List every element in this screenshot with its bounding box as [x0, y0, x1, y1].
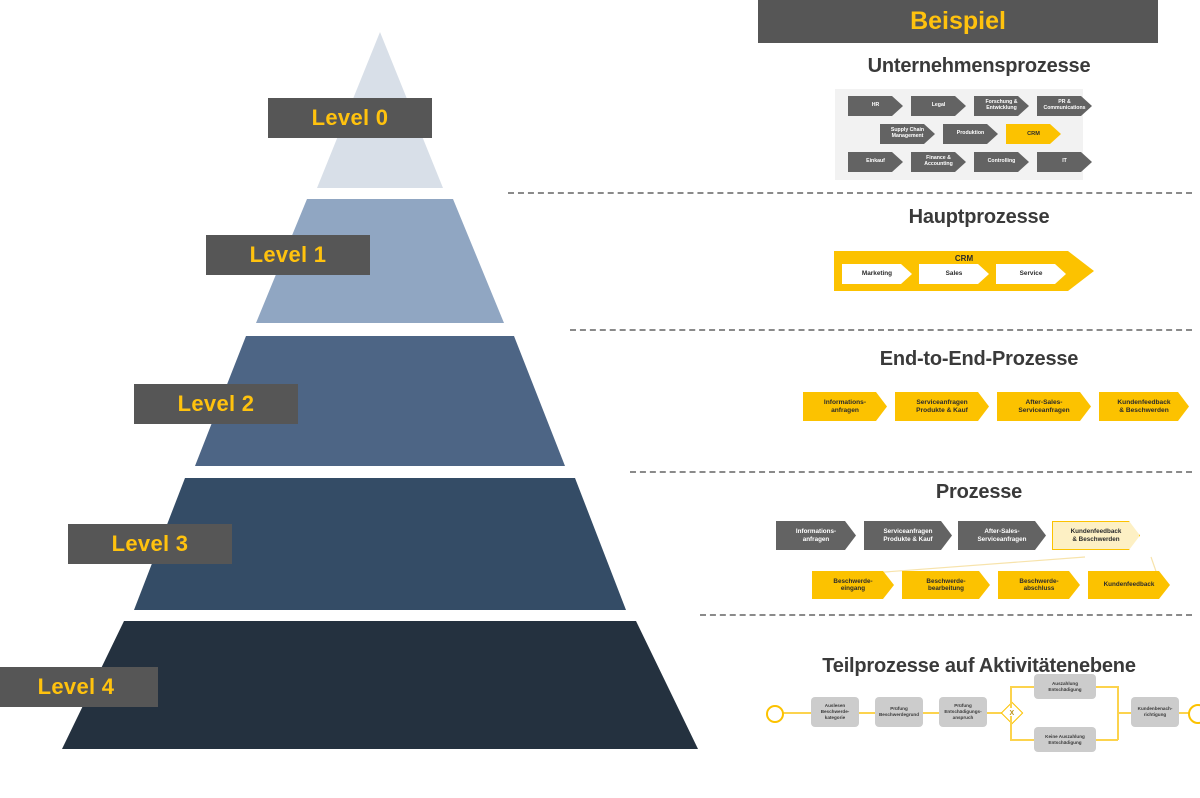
section-title-teilprozesse: Teilprozesse auf Aktivitätenebene: [758, 655, 1200, 678]
example-header-title: Beispiel: [910, 7, 1006, 36]
prozesse-top-informationsanfragen[interactable]: Informations- anfragen: [776, 521, 856, 550]
level-label-1[interactable]: Level 1: [206, 235, 370, 275]
level-label-0[interactable]: Level 0: [268, 98, 432, 138]
chevron-einkauf-label: Einkauf: [866, 159, 885, 165]
e2e-chevron-serviceanfragen[interactable]: Serviceanfragen Produkte & Kauf: [895, 392, 989, 421]
bpmn-task-pruefung-entschaedigungsanspruch-label: Prüfung Entschädigungs- anspruch: [944, 703, 981, 720]
chevron-sales[interactable]: Sales: [919, 264, 989, 284]
chevron-marketing[interactable]: Marketing: [842, 264, 912, 284]
bpmn-branch-up: [1010, 686, 1012, 708]
section-title-hauptprozesse: Hauptprozesse: [758, 206, 1200, 229]
bpmn-connector-1: [859, 712, 875, 714]
bpmn-task-auslesen-beschwerdekategorie-label: Auslesen Beschwerde- kategorie: [821, 703, 850, 720]
section-title-unternehmensprozesse: Unternehmensprozesse: [758, 55, 1200, 78]
chevron-produktion-label: Produktion: [957, 131, 984, 137]
chevron-pr-communications-label: PR & Communications: [1043, 100, 1085, 112]
bpmn-merge-to-final: [1117, 712, 1131, 714]
bpmn-flow: Auslesen Beschwerde- kategorie Prüfung B…: [758, 678, 1200, 798]
chevron-marketing-label: Marketing: [862, 270, 892, 277]
chevron-finance-accounting-label: Finance & Accounting: [924, 156, 953, 168]
prozesse-bottom-beschwerdebearbeitung[interactable]: Beschwerde- bearbeitung: [902, 571, 990, 599]
prozesse-bottom-kundenfeedback-label: Kundenfeedback: [1104, 581, 1155, 588]
prozesse-bottom-beschwerdeabschluss-label: Beschwerde- abschluss: [1019, 578, 1058, 592]
chevron-einkauf[interactable]: Einkauf: [848, 152, 903, 172]
chevron-forschung-entwicklung[interactable]: Forschung & Entwicklung: [974, 96, 1029, 116]
example-column: Beispiel Unternehmensprozesse HR Legal F…: [758, 0, 1200, 749]
bpmn-task-auszahlung-entschaedigung-label: Auszahlung Entschädigung: [1048, 681, 1081, 692]
bpmn-start-event: [766, 705, 784, 723]
prozesse-bottom-beschwerdeeingang[interactable]: Beschwerde- eingang: [812, 571, 894, 599]
chevron-legal[interactable]: Legal: [911, 96, 966, 116]
prozesse-top-after-sales-label: After-Sales- Serviceanfragen: [977, 528, 1026, 542]
bpmn-task-keine-auszahlung-entschaedigung-label: Keine Auszahlung Entschädigung: [1045, 734, 1085, 745]
bpmn-connector-2: [923, 712, 939, 714]
bpmn-branch-down: [1010, 716, 1012, 740]
slide-canvas: Level 0 Level 1 Level 2 Level 3 Level 4 …: [0, 0, 1200, 749]
prozesse-bottom-beschwerdebearbeitung-label: Beschwerde- bearbeitung: [926, 578, 965, 592]
chevron-controlling[interactable]: Controlling: [974, 152, 1029, 172]
level-label-3-text: Level 3: [112, 531, 189, 557]
level-label-0-text: Level 0: [312, 105, 389, 131]
e2e-chevron-kundenfeedback[interactable]: Kundenfeedback & Beschwerden: [1099, 392, 1189, 421]
bpmn-branch-down-h: [1010, 739, 1034, 741]
chevron-it-label: IT: [1062, 159, 1067, 165]
bpmn-branch-up-h: [1010, 686, 1034, 688]
chevron-hr-label: HR: [872, 103, 880, 109]
prozesse-bottom-beschwerdeeingang-label: Beschwerde- eingang: [833, 578, 872, 592]
bpmn-task-auslesen-beschwerdekategorie[interactable]: Auslesen Beschwerde- kategorie: [811, 697, 859, 727]
prozesse-top-informationsanfragen-label: Informations- anfragen: [796, 528, 836, 542]
level-label-3[interactable]: Level 3: [68, 524, 232, 564]
prozesse-top-serviceanfragen[interactable]: Serviceanfragen Produkte & Kauf: [864, 521, 952, 550]
prozesse-top-serviceanfragen-label: Serviceanfragen Produkte & Kauf: [883, 528, 932, 542]
e2e-chevron-kundenfeedback-label: Kundenfeedback & Beschwerden: [1117, 399, 1170, 414]
chevron-supply-chain-management[interactable]: Supply Chain Management: [880, 124, 935, 144]
e2e-chevron-serviceanfragen-label: Serviceanfragen Produkte & Kauf: [916, 399, 968, 414]
prozesse-bottom-kundenfeedback[interactable]: Kundenfeedback: [1088, 571, 1170, 599]
chevron-finance-accounting[interactable]: Finance & Accounting: [911, 152, 966, 172]
bpmn-merge-up-h: [1096, 686, 1118, 688]
prozesse-top-kundenfeedback-highlight[interactable]: Kundenfeedback & Beschwerden: [1052, 521, 1140, 550]
chevron-controlling-label: Controlling: [988, 159, 1016, 165]
chevron-crm-label: CRM: [1027, 131, 1040, 137]
bpmn-task-kundenbenachrichtigung-label: Kundenbenach- richtigung: [1138, 706, 1173, 717]
section-title-end-to-end-prozesse: End-to-End-Prozesse: [758, 348, 1200, 371]
level-label-1-text: Level 1: [250, 242, 327, 268]
prozesse-bottom-beschwerdeabschluss[interactable]: Beschwerde- abschluss: [998, 571, 1080, 599]
e2e-chevron-after-sales-label: After-Sales- Serviceanfragen: [1018, 399, 1069, 414]
bpmn-merge-down-h: [1096, 739, 1118, 741]
bpmn-gateway-xor[interactable]: X: [1001, 702, 1024, 725]
bpmn-end-event: [1188, 704, 1200, 724]
hauptprozesse-crm-label: CRM: [834, 254, 1094, 263]
chevron-legal-label: Legal: [932, 103, 946, 109]
level-label-2-text: Level 2: [178, 391, 255, 417]
bpmn-task-pruefung-entschaedigungsanspruch[interactable]: Prüfung Entschädigungs- anspruch: [939, 697, 987, 727]
chevron-hr[interactable]: HR: [848, 96, 903, 116]
prozesse-top-after-sales[interactable]: After-Sales- Serviceanfragen: [958, 521, 1046, 550]
chevron-supply-chain-management-label: Supply Chain Management: [891, 128, 924, 140]
e2e-chevron-informationsanfragen-label: Informations- anfragen: [824, 399, 866, 414]
bpmn-task-pruefung-beschwerdegrund-label: Prüfung Beschwerdegrund: [879, 706, 919, 717]
chevron-pr-communications[interactable]: PR & Communications: [1037, 96, 1092, 116]
chevron-forschung-entwicklung-label: Forschung & Entwicklung: [986, 100, 1018, 112]
chevron-sales-label: Sales: [946, 270, 963, 277]
example-header-bar: Beispiel: [758, 0, 1158, 43]
chevron-service[interactable]: Service: [996, 264, 1066, 284]
bpmn-task-auszahlung-entschaedigung[interactable]: Auszahlung Entschädigung: [1034, 674, 1096, 699]
e2e-chevron-informationsanfragen[interactable]: Informations- anfragen: [803, 392, 887, 421]
chevron-produktion[interactable]: Produktion: [943, 124, 998, 144]
level-label-4[interactable]: Level 4: [0, 667, 158, 707]
level-label-4-text: Level 4: [38, 674, 115, 700]
chevron-it[interactable]: IT: [1037, 152, 1092, 172]
bpmn-task-kundenbenachrichtigung[interactable]: Kundenbenach- richtigung: [1131, 697, 1179, 727]
section-title-prozesse: Prozesse: [758, 481, 1200, 504]
level-label-2[interactable]: Level 2: [134, 384, 298, 424]
chevron-service-label: Service: [1020, 270, 1043, 277]
bpmn-task-keine-auszahlung-entschaedigung[interactable]: Keine Auszahlung Entschädigung: [1034, 727, 1096, 752]
bpmn-task-pruefung-beschwerdegrund[interactable]: Prüfung Beschwerdegrund: [875, 697, 923, 727]
chevron-crm-highlight[interactable]: CRM: [1006, 124, 1061, 144]
e2e-chevron-after-sales[interactable]: After-Sales- Serviceanfragen: [997, 392, 1091, 421]
prozesse-top-kundenfeedback-label: Kundenfeedback & Beschwerden: [1071, 528, 1122, 542]
